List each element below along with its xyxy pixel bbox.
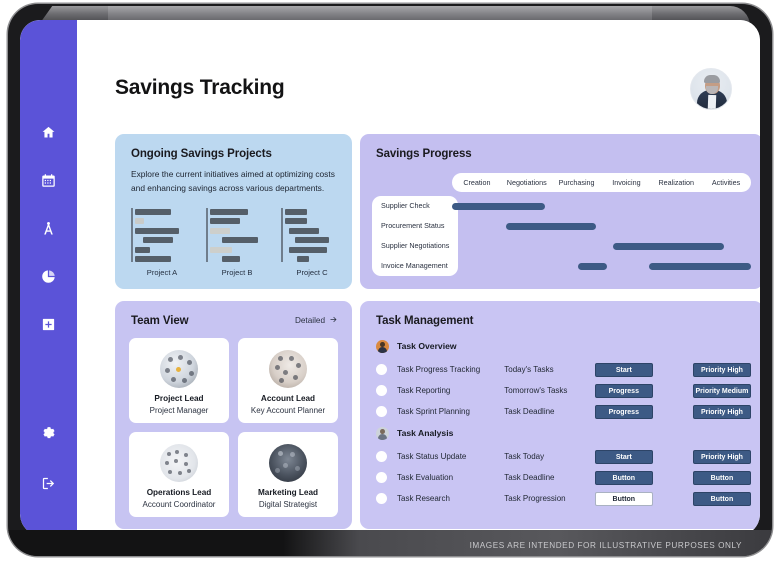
- team-member-subtitle: Project Manager: [150, 406, 209, 415]
- team-detailed-label: Detailed: [295, 316, 325, 325]
- chart-axis: [206, 208, 208, 262]
- avatar-shirt: [708, 95, 716, 109]
- task-checkbox[interactable]: [376, 493, 387, 504]
- chart-bar: [143, 237, 173, 243]
- task-name: Task Research: [397, 494, 504, 503]
- task-section-name: Task Overview: [397, 341, 457, 351]
- avatar-body: [378, 434, 387, 440]
- team-member-card[interactable]: Operations Lead Account Coordinator: [129, 432, 229, 517]
- gantt-row-label: Supplier Check: [372, 196, 458, 216]
- project-bar-charts: Project A Project B: [131, 208, 342, 281]
- gantt-chart: Supplier Check Procurement Status Suppli…: [372, 196, 751, 276]
- card-description: Explore the current initiatives aimed at…: [131, 168, 338, 195]
- page-content: Savings Tracking Ongoing Savings Project…: [77, 20, 760, 536]
- task-checkbox[interactable]: [376, 364, 387, 375]
- section-avatar: [376, 427, 389, 440]
- gantt-row: [452, 196, 751, 216]
- sidebar-item-settings[interactable]: [37, 424, 61, 448]
- chart-label: Project A: [131, 268, 193, 277]
- table-row: Task Evaluation Task Deadline Button But…: [372, 467, 751, 488]
- chart-bar: [135, 256, 171, 262]
- team-member-photo: [269, 350, 307, 388]
- chart-bars: [285, 209, 343, 265]
- task-name: Task Reporting: [397, 386, 504, 395]
- card-ongoing-savings-projects: Ongoing Savings Projects Explore the cur…: [115, 134, 352, 289]
- gantt-column-header: Purchasing: [552, 178, 602, 187]
- gantt-column-header: Activities: [701, 178, 751, 187]
- task-name: Task Evaluation: [397, 473, 504, 482]
- chart-project-c: Project C: [281, 208, 342, 281]
- task-meta: Tomorrow's Tasks: [504, 386, 594, 395]
- chart-bar: [210, 247, 232, 253]
- chart-bars: [210, 209, 268, 265]
- chart-bar: [285, 209, 307, 215]
- gantt-row: [452, 216, 751, 236]
- tablet-screen: Savings Tracking Ongoing Savings Project…: [20, 20, 760, 536]
- team-member-card[interactable]: Project Lead Project Manager: [129, 338, 229, 423]
- task-priority-badge[interactable]: Priority High: [693, 363, 751, 377]
- chart-axis: [281, 208, 283, 262]
- task-priority-badge[interactable]: Button: [693, 471, 751, 485]
- section-avatar: [376, 340, 389, 353]
- task-section-name: Task Analysis: [397, 428, 453, 438]
- chart-project-a: Project A: [131, 208, 192, 281]
- task-meta: Today's Tasks: [504, 365, 594, 374]
- gantt-bar: [452, 203, 545, 211]
- task-meta: Task Progression: [504, 494, 594, 503]
- task-section-analysis: Task Analysis Task Status Update Task To…: [372, 425, 751, 509]
- gantt-column-header: Realization: [651, 178, 701, 187]
- chart-bar: [135, 228, 179, 234]
- gantt-column-header: Creation: [452, 178, 502, 187]
- team-member-grid: Project Lead Project Manager Account Lea…: [129, 338, 338, 517]
- task-action-button[interactable]: Button: [595, 471, 653, 485]
- team-member-card[interactable]: Account Lead Key Account Planner: [238, 338, 338, 423]
- task-action-button[interactable]: Progress: [595, 384, 653, 398]
- team-member-subtitle: Key Account Planner: [251, 406, 325, 415]
- card-title: Task Management: [376, 315, 473, 327]
- gantt-bar: [649, 263, 751, 271]
- footer-disclaimer: IMAGES ARE INTENDED FOR ILLUSTRATIVE PUR…: [470, 541, 742, 550]
- team-member-photo: [269, 444, 307, 482]
- arrow-right-icon: [329, 315, 338, 326]
- chart-bars: [135, 209, 193, 265]
- task-checkbox[interactable]: [376, 451, 387, 462]
- chart-bar: [295, 237, 329, 243]
- table-row: Task Reporting Tomorrow's Tasks Progress…: [372, 380, 751, 401]
- gantt-row-label: Invoice Management: [372, 256, 458, 276]
- chart-label: Project B: [206, 268, 268, 277]
- team-member-photo: [160, 350, 198, 388]
- card-title: Ongoing Savings Projects: [131, 148, 272, 160]
- task-action-button[interactable]: Progress: [595, 405, 653, 419]
- chart-bar: [210, 218, 240, 224]
- sidebar-item-home[interactable]: [37, 123, 61, 147]
- chart-bar: [289, 247, 327, 253]
- task-checkbox[interactable]: [376, 472, 387, 483]
- tablet-bezel-gloss: [108, 6, 652, 20]
- gantt-bar: [506, 223, 596, 231]
- sidebar: [20, 20, 77, 536]
- team-member-subtitle: Account Coordinator: [143, 500, 216, 509]
- gantt-row: [452, 236, 751, 256]
- task-name: Task Sprint Planning: [397, 407, 504, 416]
- sidebar-item-calendar[interactable]: [37, 171, 61, 195]
- avatar-hair: [704, 75, 720, 83]
- task-action-button[interactable]: Start: [595, 363, 653, 377]
- gantt-column-headers: Creation Negotiations Purchasing Invoici…: [452, 173, 751, 192]
- chart-bar: [210, 228, 230, 234]
- team-member-card[interactable]: Marketing Lead Digital Strategist: [238, 432, 338, 517]
- team-member-photo: [160, 444, 198, 482]
- chart-label: Project C: [281, 268, 343, 277]
- gantt-row-labels: Supplier Check Procurement Status Suppli…: [372, 196, 458, 276]
- task-priority-badge[interactable]: Priority High: [693, 450, 751, 464]
- task-meta: Task Deadline: [504, 473, 594, 482]
- plus-square-icon: [41, 317, 56, 337]
- gantt-row: [452, 256, 751, 276]
- home-icon: [41, 125, 56, 145]
- tablet-frame: Savings Tracking Ongoing Savings Project…: [8, 4, 772, 556]
- gantt-bars-track: [452, 196, 751, 276]
- gantt-bar: [578, 263, 608, 271]
- gantt-column-header: Negotiations: [502, 178, 552, 187]
- gear-icon: [41, 426, 56, 446]
- task-priority-badge[interactable]: Button: [693, 492, 751, 506]
- calendar-icon: [41, 173, 56, 193]
- avatar-body: [378, 347, 387, 353]
- task-meta: Task Deadline: [504, 407, 594, 416]
- task-section-header: Task Overview: [372, 338, 751, 354]
- task-section-overview: Task Overview Task Progress Tracking Tod…: [372, 338, 751, 422]
- team-member-role: Marketing Lead: [258, 488, 318, 497]
- task-section-header: Task Analysis: [372, 425, 751, 441]
- page-title: Savings Tracking: [115, 76, 285, 100]
- card-team-view: Team View Detailed Project Lead: [115, 301, 352, 529]
- table-row: Task Research Task Progression Button Bu…: [372, 488, 751, 509]
- gantt-column-header: Invoicing: [601, 178, 651, 187]
- team-detailed-link[interactable]: Detailed: [295, 315, 338, 326]
- card-savings-progress: Savings Progress Creation Negotiations P…: [360, 134, 760, 289]
- gantt-bar: [613, 243, 724, 251]
- chart-bar: [222, 256, 240, 262]
- table-row: Task Sprint Planning Task Deadline Progr…: [372, 401, 751, 422]
- task-checkbox[interactable]: [376, 385, 387, 396]
- table-row: Task Status Update Task Today Start Prio…: [372, 446, 751, 467]
- task-meta: Task Today: [504, 452, 594, 461]
- compass-icon: [41, 221, 56, 241]
- chart-bar: [285, 218, 307, 224]
- card-title: Team View: [131, 315, 188, 327]
- avatar[interactable]: [690, 68, 732, 110]
- sidebar-item-design[interactable]: [37, 219, 61, 243]
- team-member-role: Account Lead: [261, 394, 315, 403]
- sidebar-top-nav: [37, 123, 61, 339]
- chart-bar: [135, 209, 171, 215]
- sidebar-item-add[interactable]: [37, 315, 61, 339]
- team-member-role: Project Lead: [154, 394, 203, 403]
- chart-bar: [135, 218, 144, 224]
- sidebar-item-analytics[interactable]: [37, 267, 61, 291]
- chart-bar: [135, 247, 150, 253]
- card-title: Savings Progress: [376, 148, 472, 160]
- gantt-row-label: Procurement Status: [372, 216, 458, 236]
- chart-bar: [289, 228, 319, 234]
- team-member-role: Operations Lead: [147, 488, 212, 497]
- table-row: Task Progress Tracking Today's Tasks Sta…: [372, 359, 751, 380]
- sidebar-item-logout[interactable]: [37, 474, 61, 498]
- task-action-button[interactable]: Button: [595, 492, 653, 506]
- chart-bar: [222, 237, 258, 243]
- chart-axis: [131, 208, 133, 262]
- task-priority-badge[interactable]: Priority Medium: [693, 384, 751, 398]
- task-checkbox[interactable]: [376, 406, 387, 417]
- gantt-row-label: Supplier Negotiations: [372, 236, 458, 256]
- chart-bar: [210, 209, 248, 215]
- team-member-subtitle: Digital Strategist: [259, 500, 317, 509]
- logout-icon: [41, 476, 56, 496]
- pie-chart-icon: [41, 269, 56, 289]
- card-task-management: Task Management Task Overview Task Progr…: [360, 301, 760, 529]
- chart-bar: [297, 256, 309, 262]
- chart-project-b: Project B: [206, 208, 267, 281]
- task-action-button[interactable]: Start: [595, 450, 653, 464]
- task-priority-badge[interactable]: Priority High: [693, 405, 751, 419]
- task-name: Task Status Update: [397, 452, 504, 461]
- sidebar-bottom-nav: [37, 424, 61, 498]
- task-name: Task Progress Tracking: [397, 365, 504, 374]
